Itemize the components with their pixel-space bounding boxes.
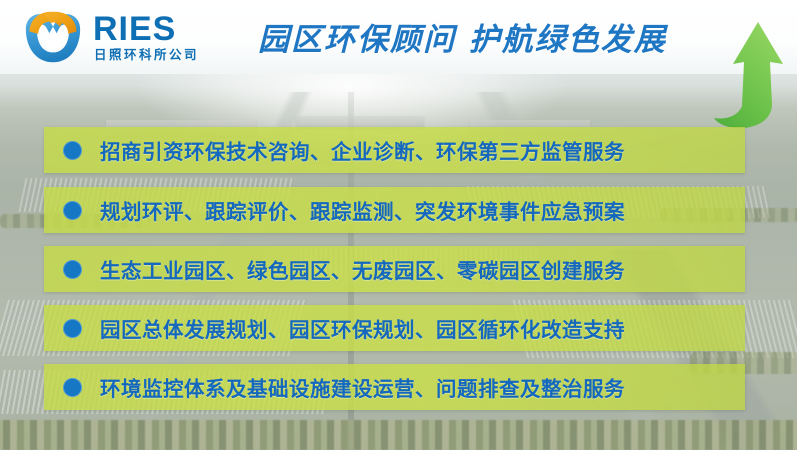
service-label-3: 生态工业园区、绿色园区、无废园区、零碳园区创建服务 bbox=[100, 254, 625, 284]
service-bar-5[interactable]: 环境监控体系及基础设施建设运营、问题排查及整治服务 bbox=[44, 364, 745, 410]
services-list: 招商引资环保技术咨询、企业诊断、环保第三方监管服务 规划环评、跟踪评价、跟踪监测… bbox=[0, 0, 797, 450]
bullet-dot-icon bbox=[63, 378, 82, 397]
service-label-2: 规划环评、跟踪评价、跟踪监测、突发环境事件应急预案 bbox=[100, 195, 625, 225]
bullet-dot-icon bbox=[63, 201, 82, 220]
service-bar-4[interactable]: 园区总体发展规划、园区环保规划、园区循环化改造支持 bbox=[44, 305, 745, 351]
service-label-4: 园区总体发展规划、园区环保规划、园区循环化改造支持 bbox=[100, 313, 625, 343]
bullet-dot-icon bbox=[63, 260, 82, 279]
service-bar-3[interactable]: 生态工业园区、绿色园区、无废园区、零碳园区创建服务 bbox=[44, 246, 745, 292]
bullet-dot-icon bbox=[63, 319, 82, 338]
service-label-5: 环境监控体系及基础设施建设运营、问题排查及整治服务 bbox=[100, 372, 625, 402]
bullet-dot-icon bbox=[63, 141, 82, 160]
service-label-1: 招商引资环保技术咨询、企业诊断、环保第三方监管服务 bbox=[100, 135, 625, 165]
service-bar-2[interactable]: 规划环评、跟踪评价、跟踪监测、突发环境事件应急预案 bbox=[44, 187, 745, 233]
poster-canvas: RIES 日照环科所公司 园区环保顾问 护航绿色发展 招商引资环保技术咨询、企业… bbox=[0, 0, 797, 450]
service-bar-1[interactable]: 招商引资环保技术咨询、企业诊断、环保第三方监管服务 bbox=[44, 127, 745, 173]
